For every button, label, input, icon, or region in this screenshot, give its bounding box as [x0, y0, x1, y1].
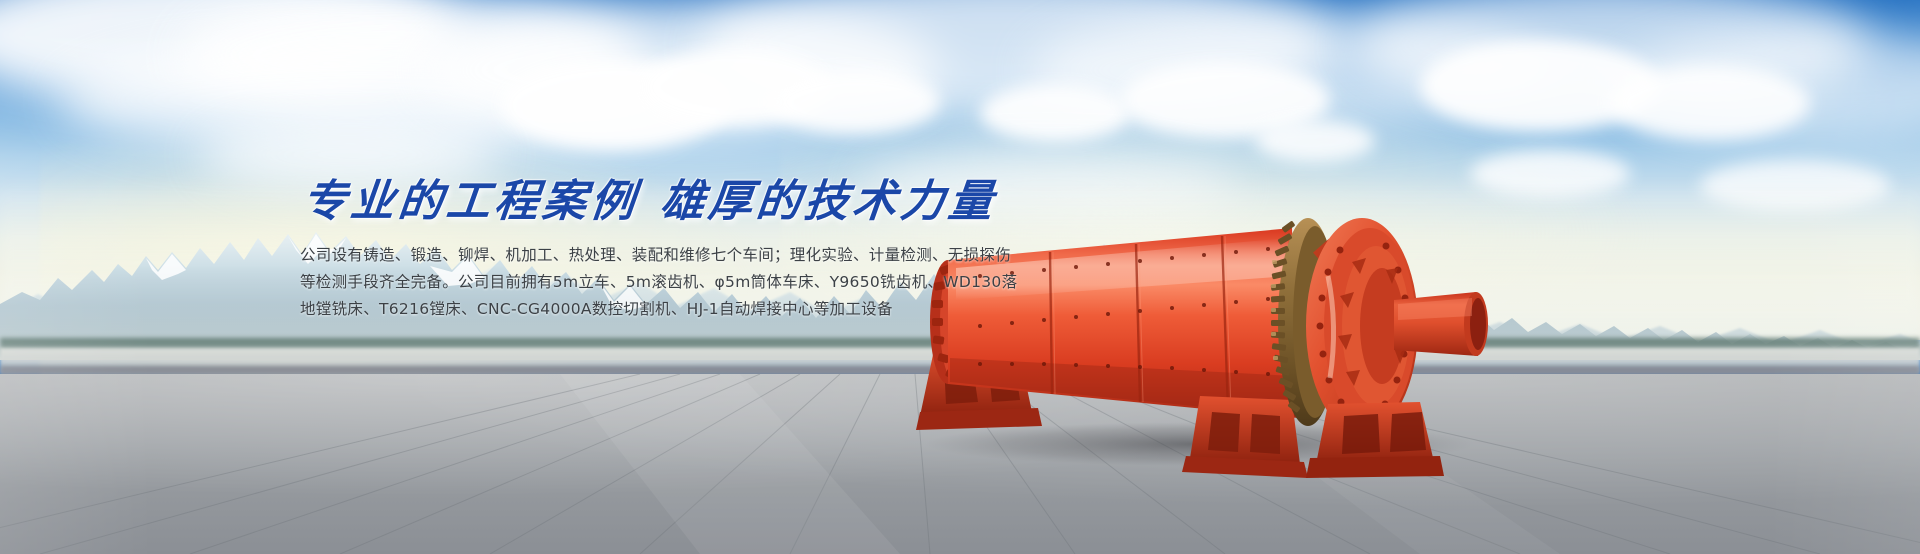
mill-discharge-spout — [1394, 292, 1488, 356]
banner-description: 公司设有铸造、锻造、铆焊、机加工、热处理、装配和维修七个车间；理化实验、计量检测… — [300, 242, 920, 323]
promo-banner: 专业的工程案例雄厚的技术力量 公司设有铸造、锻造、铆焊、机加工、热处理、装配和维… — [0, 0, 1920, 554]
headline-part-1: 专业的工程案例 — [300, 176, 641, 227]
description-line-1: 公司设有铸造、锻造、铆焊、机加工、热处理、装配和维修七个车间；理化实验、计量检测… — [300, 242, 920, 269]
banner-headline: 专业的工程案例雄厚的技术力量 — [300, 178, 925, 226]
mill-bearing-pedestal — [1306, 402, 1444, 478]
mill-support-right — [1182, 396, 1308, 478]
banner-copy: 专业的工程案例雄厚的技术力量 公司设有铸造、锻造、铆焊、机加工、热处理、装配和维… — [300, 178, 920, 323]
description-line-3: 地镗铣床、T6216镗床、CNC-CG4000A数控切割机、HJ-1自动焊接中心… — [300, 296, 920, 323]
description-line-2: 等检测手段齐全完备。公司目前拥有5m立车、5m滚齿机、φ5m筒体车床、Y9650… — [300, 269, 920, 296]
headline-part-2: 雄厚的技术力量 — [658, 176, 999, 227]
